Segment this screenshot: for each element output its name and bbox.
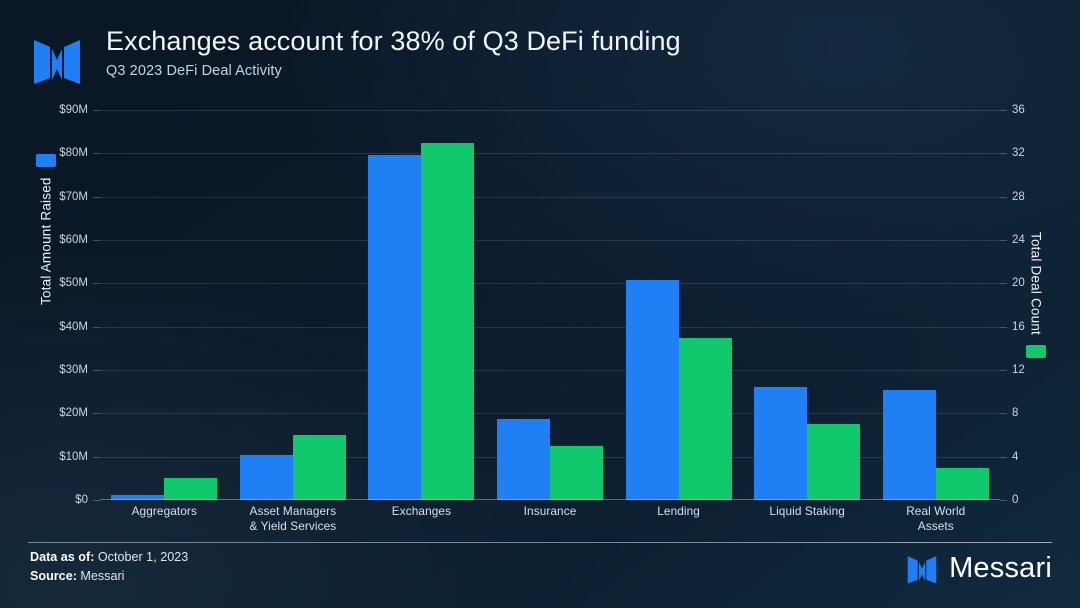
bar-deal-count[interactable] <box>164 478 217 500</box>
legend-swatch-green <box>1026 345 1046 358</box>
y-axis-right-tick <box>1000 110 1007 111</box>
x-axis-category-label: Lending <box>614 504 743 534</box>
bar-deal-count[interactable] <box>550 446 603 500</box>
y-axis-right-tick <box>1000 413 1007 414</box>
bar-amount-raised[interactable] <box>883 390 936 500</box>
y-axis-left-tick-label: $30M <box>59 364 88 376</box>
y-axis-right-tick-label: 28 <box>1012 191 1025 203</box>
y-axis-left-tick <box>93 413 100 414</box>
y-axis-left-tick-label: $40M <box>59 321 88 333</box>
y-axis-right-title: Total Deal Count <box>1024 232 1046 358</box>
bar-deal-count[interactable] <box>679 338 732 501</box>
bar-amount-raised[interactable] <box>368 155 421 500</box>
y-axis-right-tick-label: 12 <box>1012 364 1025 376</box>
footer-source: Source: Messari <box>30 567 188 586</box>
footer-source-label: Source: <box>30 569 77 583</box>
footer-brand: Messari <box>904 550 1052 586</box>
bar-amount-raised[interactable] <box>626 280 679 500</box>
y-axis-left-tick <box>93 500 100 501</box>
footer-data-as-of-value: October 1, 2023 <box>94 550 188 564</box>
messari-wordmark: Messari <box>949 552 1052 585</box>
bar-group <box>357 110 486 500</box>
x-axis-category-label-line: Lending <box>614 504 743 519</box>
y-axis-left-title-text: Total Amount Raised <box>39 177 54 305</box>
legend-swatch-blue <box>36 154 56 167</box>
x-axis-category-label-line: Exchanges <box>357 504 486 519</box>
messari-logo-icon-footer <box>904 550 940 586</box>
messari-logo-icon <box>28 30 86 88</box>
x-axis-baseline <box>100 499 1000 500</box>
chart-page: Exchanges account for 38% of Q3 DeFi fun… <box>0 0 1080 608</box>
bar-group <box>614 110 743 500</box>
page-title: Exchanges account for 38% of Q3 DeFi fun… <box>106 24 681 58</box>
y-axis-left-tick-label: $50M <box>59 277 88 289</box>
plot-area: $0$10M$20M$30M$40M$50M$60M$70M$80M$90M 0… <box>100 110 1000 500</box>
x-axis-category-label: Asset Managers& Yield Services <box>229 504 358 534</box>
y-axis-left-tick-label: $0 <box>75 494 88 506</box>
y-axis-right-tick <box>1000 153 1007 154</box>
x-axis-category-label-line: & Yield Services <box>229 519 358 534</box>
x-axis-category-label-line: Aggregators <box>100 504 229 519</box>
bar-group <box>100 110 229 500</box>
x-axis-category-label: Liquid Staking <box>743 504 872 534</box>
y-axis-right-tick <box>1000 370 1007 371</box>
y-axis-left-tick-label: $90M <box>59 104 88 116</box>
bar-group <box>871 110 1000 500</box>
y-axis-right-tick-label: 36 <box>1012 104 1025 116</box>
bar-group <box>486 110 615 500</box>
x-axis-category-label-line: Insurance <box>486 504 615 519</box>
y-axis-left-tick-label: $80M <box>59 147 88 159</box>
y-axis-left-tick-label: $10M <box>59 451 88 463</box>
y-axis-right-tick <box>1000 500 1007 501</box>
y-axis-left-tick-label: $20M <box>59 407 88 419</box>
footer-divider <box>28 542 1052 543</box>
y-axis-right-title-text: Total Deal Count <box>1028 232 1043 335</box>
y-axis-left-tick <box>93 327 100 328</box>
bar-group <box>743 110 872 500</box>
y-axis-right-tick-label: 16 <box>1012 321 1025 333</box>
x-axis-category-label: Aggregators <box>100 504 229 534</box>
y-axis-left-tick-label: $60M <box>59 234 88 246</box>
y-axis-right-tick <box>1000 283 1007 284</box>
x-axis-category-label-line: Real World <box>871 504 1000 519</box>
y-axis-left-tick-label: $70M <box>59 191 88 203</box>
y-axis-left-tick <box>93 153 100 154</box>
bar-group <box>229 110 358 500</box>
y-axis-right-tick <box>1000 457 1007 458</box>
y-axis-left-tick <box>93 283 100 284</box>
y-axis-right-tick-label: 4 <box>1012 451 1018 463</box>
x-axis-category-label-line: Asset Managers <box>229 504 358 519</box>
x-axis-category-label-line: Assets <box>871 519 1000 534</box>
x-axis-category-label-line: Liquid Staking <box>743 504 872 519</box>
y-axis-right-tick-label: 0 <box>1012 494 1018 506</box>
bar-amount-raised[interactable] <box>497 419 550 500</box>
y-axis-right-tick-label: 8 <box>1012 407 1018 419</box>
y-axis-left-title: Total Amount Raised <box>36 154 58 305</box>
y-axis-right-tick-label: 24 <box>1012 234 1025 246</box>
y-axis-left-tick <box>93 457 100 458</box>
footer-data-as-of-label: Data as of: <box>30 550 94 564</box>
y-axis-left-tick <box>93 240 100 241</box>
bar-deal-count[interactable] <box>293 435 346 500</box>
footer-notes: Data as of: October 1, 2023 Source: Mess… <box>30 548 188 586</box>
bar-groups <box>100 110 1000 500</box>
y-axis-right-tick <box>1000 197 1007 198</box>
y-axis-right-tick-label: 32 <box>1012 147 1025 159</box>
bar-amount-raised[interactable] <box>240 455 293 500</box>
x-axis-category-label: Real WorldAssets <box>871 504 1000 534</box>
x-axis-category-label: Exchanges <box>357 504 486 534</box>
bar-amount-raised[interactable] <box>754 387 807 500</box>
y-axis-right-tick <box>1000 327 1007 328</box>
bar-deal-count[interactable] <box>807 424 860 500</box>
x-axis-category-label: Insurance <box>486 504 615 534</box>
x-axis-category-labels: AggregatorsAsset Managers& Yield Service… <box>100 504 1000 534</box>
y-axis-right-tick-label: 20 <box>1012 277 1025 289</box>
chart-header: Exchanges account for 38% of Q3 DeFi fun… <box>28 24 1052 94</box>
bar-deal-count[interactable] <box>936 468 989 501</box>
y-axis-left-tick <box>93 110 100 111</box>
footer-data-as-of: Data as of: October 1, 2023 <box>30 548 188 567</box>
y-axis-left-tick <box>93 370 100 371</box>
y-axis-left-tick <box>93 197 100 198</box>
y-axis-right-tick <box>1000 240 1007 241</box>
title-block: Exchanges account for 38% of Q3 DeFi fun… <box>106 24 681 79</box>
footer-source-value: Messari <box>77 569 125 583</box>
page-subtitle: Q3 2023 DeFi Deal Activity <box>106 63 681 79</box>
bar-deal-count[interactable] <box>421 143 474 501</box>
